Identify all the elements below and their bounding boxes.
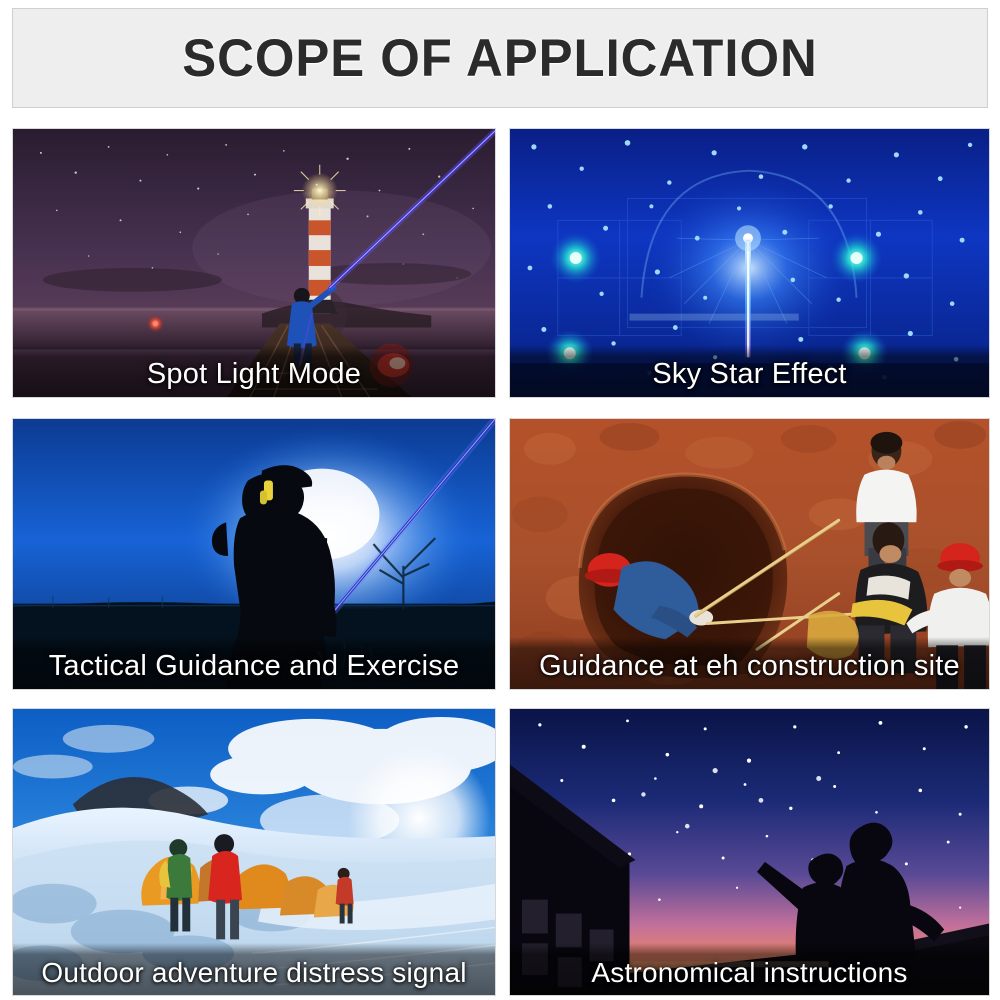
scene-night-lighthouse bbox=[13, 129, 495, 397]
panel-sky-star-effect[interactable]: Sky Star Effect bbox=[509, 128, 990, 398]
header-banner: SCOPE OF APPLICATION bbox=[12, 8, 988, 108]
panel-caption: Guidance at eh construction site bbox=[510, 650, 989, 683]
panel-caption: Tactical Guidance and Exercise bbox=[13, 650, 495, 683]
scene-stargazing bbox=[510, 709, 989, 995]
panel-caption: Spot Light Mode bbox=[13, 358, 495, 391]
panel-grid: Spot Light Mode bbox=[12, 128, 990, 996]
application-scope-infographic: SCOPE OF APPLICATION bbox=[0, 0, 1000, 1000]
panel-caption: Outdoor adventure distress signal bbox=[13, 957, 495, 989]
panel-caption: Sky Star Effect bbox=[510, 358, 989, 391]
scene-construction-pit bbox=[510, 419, 989, 689]
panel-construction-site[interactable]: Guidance at eh construction site bbox=[509, 418, 990, 690]
panel-spot-light-mode[interactable]: Spot Light Mode bbox=[12, 128, 496, 398]
scene-sky-star-effect bbox=[510, 129, 989, 397]
page-title: SCOPE OF APPLICATION bbox=[182, 28, 817, 89]
panel-caption: Astronomical instructions bbox=[510, 957, 989, 989]
panel-astronomical-instructions[interactable]: Astronomical instructions bbox=[509, 708, 990, 996]
panel-tactical-guidance[interactable]: Tactical Guidance and Exercise bbox=[12, 418, 496, 690]
scene-tactical-soldier bbox=[13, 419, 495, 689]
scene-snow-camp bbox=[13, 709, 495, 995]
panel-outdoor-distress[interactable]: Outdoor adventure distress signal bbox=[12, 708, 496, 996]
